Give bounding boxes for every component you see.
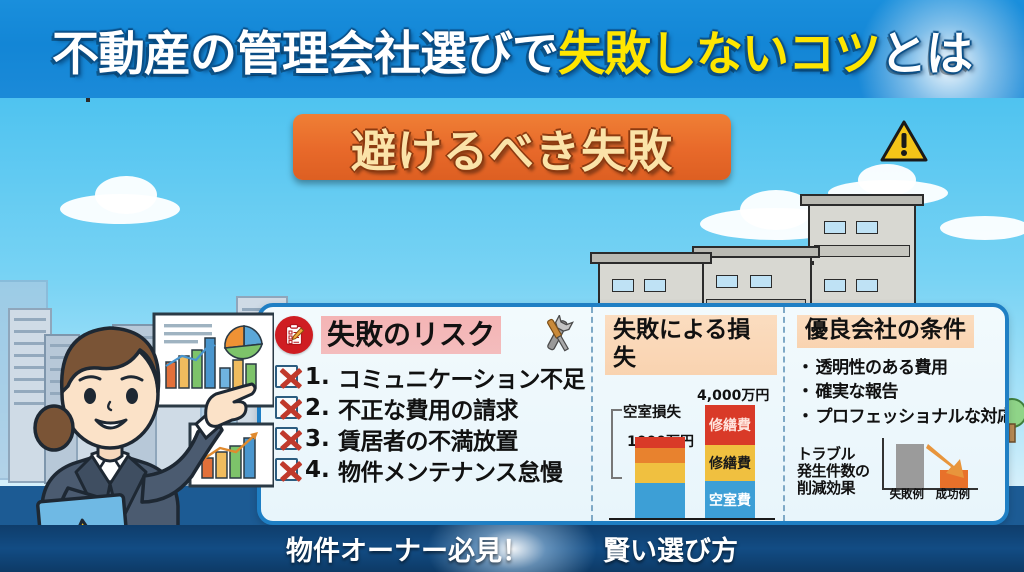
cloud-1b xyxy=(95,176,157,214)
trouble-reduction-block: トラブル 発生件数の 削減効果 失敗例 成功例 xyxy=(797,436,1009,498)
clipboard-pencil-icon xyxy=(275,316,313,354)
mini-bar-label-success: 成功例 xyxy=(936,486,971,502)
list-item: ・ 確実な報告 xyxy=(797,380,1009,405)
bar-segment-repair-red: 修繕費 xyxy=(705,405,755,445)
subtitle-banner-text: 避けるべき失敗 xyxy=(351,115,673,180)
risk-item-number: 1. xyxy=(305,364,331,390)
bar-left xyxy=(635,437,685,519)
bullet-icon: ・ xyxy=(797,380,814,405)
bar-segment xyxy=(635,463,685,483)
risk-item-label: 賃居者の不満放置 xyxy=(338,422,518,456)
wrench-screwdriver-icon xyxy=(537,315,579,355)
header-bar: 不動産の管理会社選びで 失敗しないコツ とは xyxy=(0,0,1024,98)
good-company-section: 優良会社の条件 ・ 透明性のある費用 ・ 確実な報告 ・ プロフェッショナルな対… xyxy=(783,307,1009,521)
page-title: 不動産の管理会社選びで 失敗しないコツ とは xyxy=(0,0,1024,98)
list-item: 4. 物件メンテナンス怠慢 xyxy=(275,454,585,485)
bar-segment xyxy=(635,483,685,519)
subtitle-banner: 避けるべき失敗 xyxy=(293,114,731,180)
page-title-highlight: 失敗しないコツ xyxy=(558,15,880,84)
list-item: 2. 不正な費用の請求 xyxy=(275,392,585,423)
risk-item-number: 4. xyxy=(305,457,331,483)
list-item: ・ 透明性のある費用 xyxy=(797,356,1009,381)
loss-section: 失敗による損失 空室損失 1000万円 4,000万円 xyxy=(591,307,783,521)
x-checkbox-icon[interactable] xyxy=(275,427,298,450)
apartment-roof-1 xyxy=(800,194,924,206)
risk-list: 1. コミュニケーション不足 2. 不正な費用の請求 3. 賃居者の不満放置 4… xyxy=(275,361,585,485)
bar-segment-vacancy-blue: 空室費 xyxy=(705,481,755,519)
bar-segment xyxy=(635,437,685,448)
bar-segment-label: 修繕費 xyxy=(709,415,751,435)
risk-item-number: 2. xyxy=(305,395,331,421)
trouble-reduction-chart: 失敗例 成功例 xyxy=(874,436,982,498)
footer-bar: 物件オーナー必見！ 賢い選び方 xyxy=(0,525,1024,572)
bullet-icon: ・ xyxy=(797,405,814,430)
bullet-icon: ・ xyxy=(797,356,814,381)
bar-segment xyxy=(635,448,685,463)
list-item: ・ プロフェッショナルな対応 xyxy=(797,405,1009,430)
bar-segment-label: 空室費 xyxy=(709,490,751,510)
loss-section-title: 失敗による損失 xyxy=(605,315,777,375)
chart-x-axis-label: 失敗による損失 xyxy=(605,518,781,525)
apartment-roof-a xyxy=(86,98,90,102)
warning-triangle-icon xyxy=(880,120,928,164)
page-title-part-1: 不動産の管理会社選びで xyxy=(52,15,558,84)
footer-right-text: 賢い選び方 xyxy=(603,529,738,568)
content-panel: 失敗のリスク 1. コミュニケーション不足 xyxy=(257,303,1009,525)
list-item: 1. コミュニケーション不足 xyxy=(275,361,585,392)
risk-item-label: コミュニケーション不足 xyxy=(338,360,585,394)
apartment-building-3 xyxy=(810,261,814,265)
bracket-label: 空室損失 xyxy=(623,401,681,422)
good-item-label: 透明性のある費用 xyxy=(816,356,948,381)
risk-item-label: 不正な費用の請求 xyxy=(338,391,518,425)
mini-bar-label-failure: 失敗例 xyxy=(890,486,925,502)
mini-chart-y-axis xyxy=(882,438,884,490)
cloud-3b xyxy=(858,164,916,196)
mini-bar-failure xyxy=(896,444,924,488)
trouble-label-line-2: 発生件数の xyxy=(797,463,870,480)
page-title-part-2: とは xyxy=(880,15,972,84)
x-checkbox-icon[interactable] xyxy=(275,458,298,481)
good-company-title: 優良会社の条件 xyxy=(797,315,974,348)
good-company-list: ・ 透明性のある費用 ・ 確実な報告 ・ プロフェッショナルな対応 xyxy=(797,356,1009,430)
risk-section: 失敗のリスク 1. コミュニケーション不足 xyxy=(261,307,591,521)
footer-left-text: 物件オーナー必見！ xyxy=(286,529,529,568)
good-item-label: プロフェッショナルな対応 xyxy=(816,405,1009,430)
trouble-reduction-label: トラブル 発生件数の 削減効果 xyxy=(797,446,870,498)
list-item: 3. 賃居者の不満放置 xyxy=(275,423,585,454)
bar-right: 修繕費 修繕費 空室費 xyxy=(705,405,755,519)
infographic-root: 不動産の管理会社選びで 失敗しないコツ とは 避けるべき失敗 xyxy=(0,0,1024,572)
trouble-label-line-1: トラブル xyxy=(797,446,870,463)
risk-section-header: 失敗のリスク xyxy=(275,315,585,355)
bar-segment-label: 修繕費 xyxy=(709,453,751,473)
apartment-roof-4 xyxy=(590,252,712,264)
risk-section-title: 失敗のリスク xyxy=(321,316,501,354)
bar-value-label-right: 4,000万円 xyxy=(697,385,769,405)
loss-stacked-bar-chart: 空室損失 1000万円 4,000万円 修繕費 xyxy=(605,379,781,525)
good-item-label: 確実な報告 xyxy=(816,380,899,405)
trouble-label-line-3: 削減効果 xyxy=(797,480,870,497)
risk-item-label: 物件メンテナンス怠慢 xyxy=(338,453,563,487)
x-checkbox-icon[interactable] xyxy=(275,396,298,419)
x-checkbox-icon[interactable] xyxy=(275,365,298,388)
down-arrow-icon xyxy=(924,440,972,482)
bracket-annotation xyxy=(611,409,622,479)
risk-item-number: 3. xyxy=(305,426,331,452)
bar-segment-repair-yellow: 修繕費 xyxy=(705,445,755,481)
cloud-4 xyxy=(940,216,1024,240)
